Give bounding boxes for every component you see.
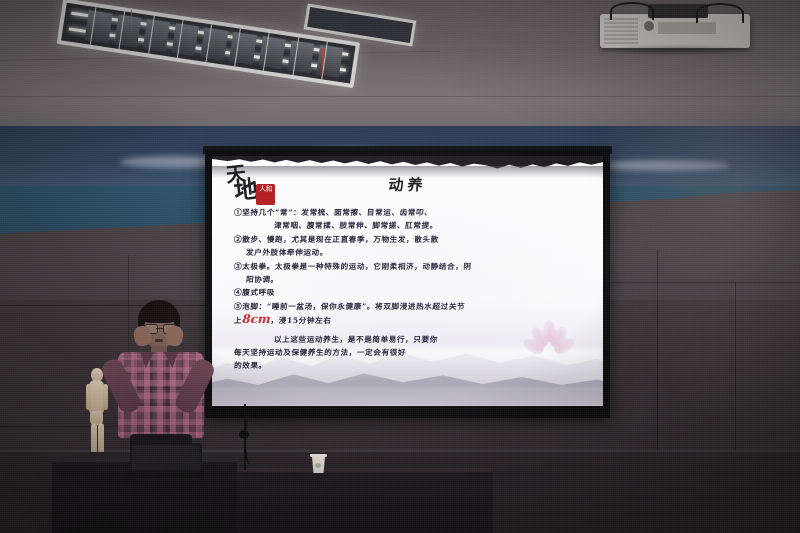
slide-body-line: ④腹式呼吸 bbox=[234, 286, 587, 299]
slide-closing-line: 每天坚持运动及保健养生的方法，一定会有很好 bbox=[234, 346, 587, 359]
footnote-red-value: 8cm bbox=[242, 312, 271, 326]
slide-body-line: ②散步、慢跑，尤其是现在正直春季，万物生发，散头散 bbox=[234, 233, 587, 246]
desk-secondary bbox=[228, 470, 493, 533]
wall-panel-seam bbox=[610, 282, 800, 283]
projector-shadow bbox=[596, 44, 756, 56]
footnote-suffix: ，浸15分钟左右 bbox=[270, 316, 332, 325]
slide-footnote-line: 上8cm，浸15分钟左右 bbox=[233, 313, 586, 327]
slide-body-text: ①坚持几个“常”：发常梳、面常擦、目常运、齿常叩、津常咽、腹常揉、肢常伸、脚常搓… bbox=[234, 206, 586, 373]
slide-body-line: 津常咽、腹常揉、肢常伸、脚常搓、肛常提。 bbox=[234, 219, 587, 232]
slide-body-line: ③太极拳。太极拳是一种特殊的运动，它刚柔相济，动静结合，阴 bbox=[234, 260, 587, 273]
wall-panel-seam bbox=[735, 282, 736, 450]
presenter-mouth bbox=[155, 339, 163, 342]
slide-title: 动养 bbox=[212, 174, 603, 195]
desk-secondary-top bbox=[228, 468, 493, 472]
slide-body-line: 阳协调。 bbox=[234, 273, 587, 286]
slide-closing-line: 以上这些运动养生，是不是简单易行，只要你 bbox=[234, 333, 587, 346]
laser-pointer-beam-2 bbox=[322, 48, 323, 84]
laptop-keyboard[interactable] bbox=[128, 470, 204, 478]
laser-pointer-beam bbox=[131, 10, 132, 40]
presenter-fringe bbox=[141, 308, 177, 323]
paper-cup-logo-icon bbox=[315, 463, 321, 468]
ceiling-seam bbox=[0, 96, 800, 97]
power-cable bbox=[244, 404, 262, 466]
laptop-screen[interactable] bbox=[130, 443, 202, 472]
slide-body-line: ①坚持几个“常”：发常梳、面常擦、目常运、齿常叩、 bbox=[234, 206, 587, 219]
slide-body-line: 发户外肢体牵伸运动。 bbox=[234, 246, 587, 259]
projected-slide: 天 地 人和 动养 ①坚持几个“常”：发常梳、面常擦、目常运、齿常叩、津常咽、腹… bbox=[212, 156, 603, 406]
wall-light-spill bbox=[600, 126, 800, 426]
slide-body-line: ⑤泡脚：“睡前一盆汤，保你永健康”。将双脚浸进热水超过关节 bbox=[234, 300, 587, 313]
slide-closing-line: 的效果。 bbox=[234, 359, 587, 372]
wall-panel-seam bbox=[657, 250, 658, 450]
screenshot-root: 天 地 人和 动养 ①坚持几个“常”：发常梳、面常擦、目常运、齿常叩、津常咽、腹… bbox=[0, 0, 800, 533]
projector-lens-icon bbox=[644, 21, 654, 31]
